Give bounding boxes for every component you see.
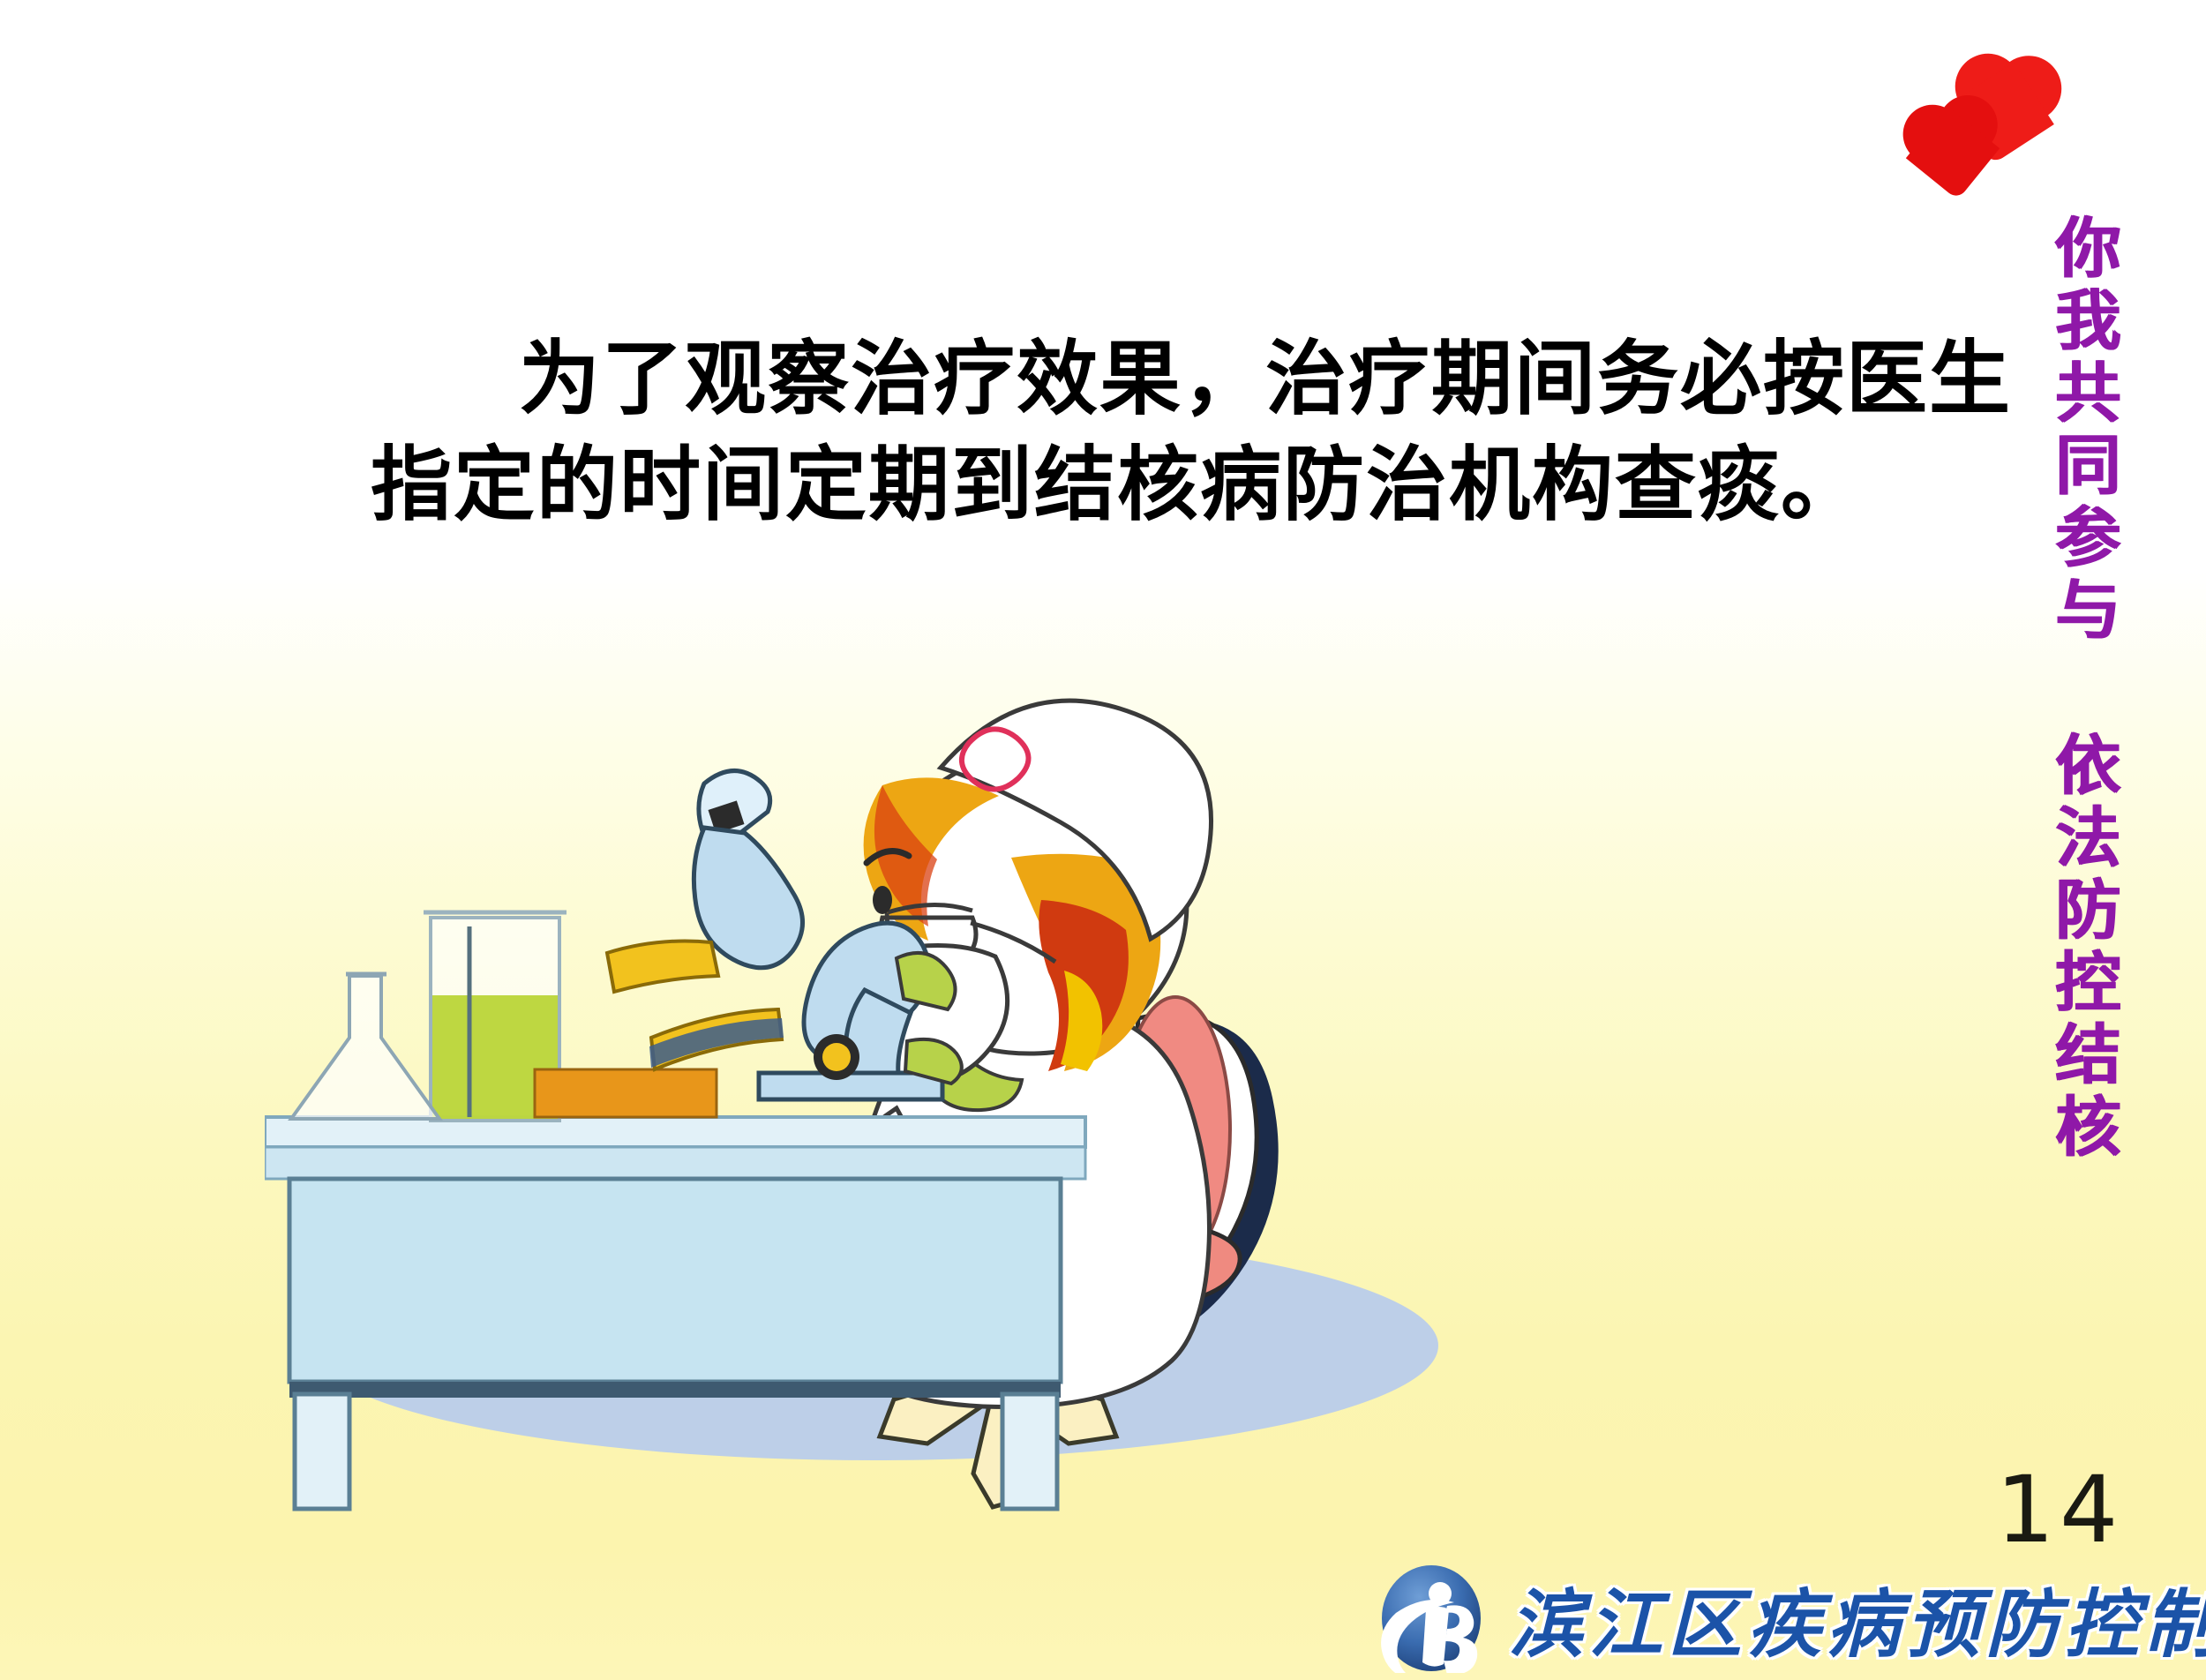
vertical-slogan: 你我共同参与 依法防控结核 [2001, 214, 2116, 1165]
illustration-lab-technician [265, 547, 1500, 1518]
page-title: 为了观察治疗效果，治疗期间务必按医生 指定的时间定期到结核病防治机构查痰。 [371, 326, 1871, 537]
footer-branding: 滨江区疾病预防控制中心 [1377, 1564, 2206, 1673]
desk-body-shape [289, 1179, 1061, 1382]
illustration-svg [265, 547, 1500, 1518]
page-number: 14 [1996, 1456, 2123, 1564]
slide-box-shape [535, 1069, 717, 1117]
organization-name: 滨江区疾病预防控制中心 [1509, 1565, 2206, 1672]
double-hearts-icon [1904, 53, 2081, 203]
desk-bottom-rail-shape [289, 1382, 1061, 1398]
microscope-stage-slide [607, 941, 718, 993]
desk-apron-shape [265, 1147, 1085, 1179]
body-text-line-2: 指定的时间定期到结核病防治机构查痰。 [371, 432, 1871, 538]
flask-shape [291, 976, 439, 1119]
body-text-line-1: 为了观察治疗效果，治疗期间务必按医生 [371, 326, 1871, 432]
eye-shape [873, 886, 892, 914]
desk-leg-right-shape [1002, 1394, 1057, 1509]
binjiang-cdc-logo-icon [1377, 1564, 1486, 1673]
desk-leg-left-shape [295, 1394, 349, 1509]
heart-icon-front [1900, 93, 2005, 198]
focus-knob-inner [822, 1043, 851, 1071]
slide-canvas: 你我共同参与 依法防控结核 为了观察治疗效果，治疗期间务必按医生 指定的时间定期… [0, 0, 2206, 1680]
desk-top-edge-shape [265, 1117, 1085, 1147]
microscope-base-shape [759, 1073, 942, 1099]
